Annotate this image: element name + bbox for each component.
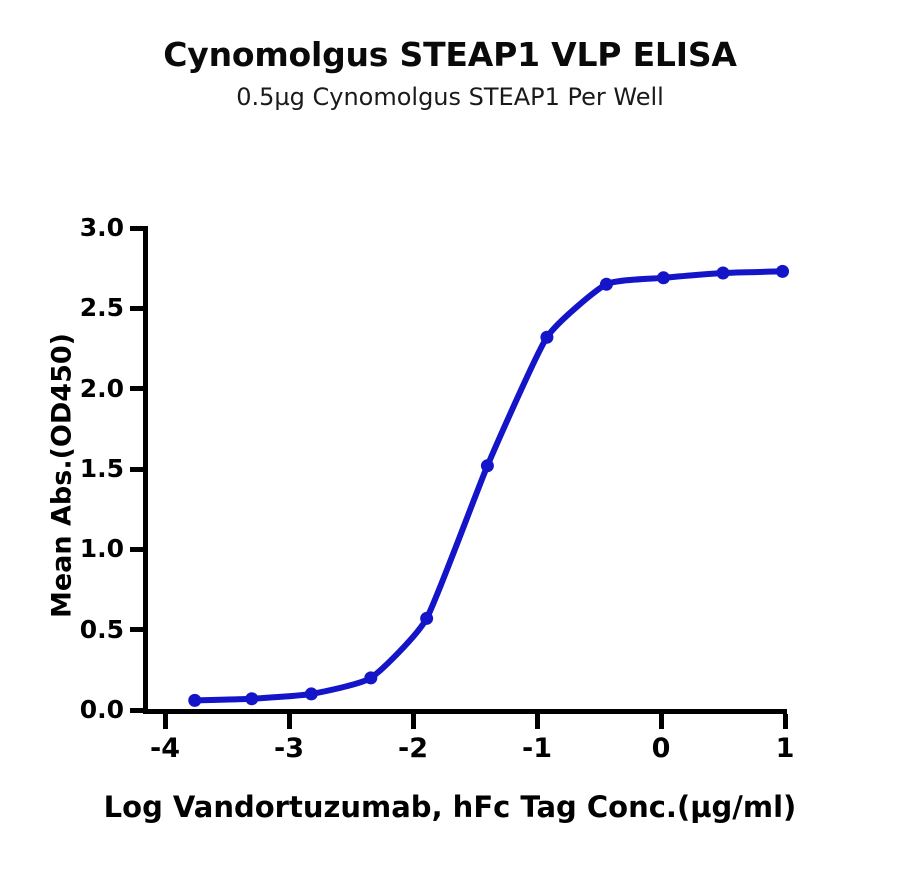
x-tick-label: 1 xyxy=(755,733,815,764)
x-axis-label: Log Vandortuzumab, hFc Tag Conc.(µg/ml) xyxy=(0,790,900,824)
y-tick-mark xyxy=(130,467,144,472)
x-tick-mark xyxy=(659,714,664,729)
y-tick-mark xyxy=(130,386,144,391)
x-tick-mark xyxy=(411,714,416,729)
data-point-marker xyxy=(188,694,201,707)
x-axis-spine xyxy=(143,709,787,714)
plot-area: 0.00.51.01.52.02.53.0 -4-3-2-101 Mean Ab… xyxy=(0,0,900,869)
x-tick-mark xyxy=(783,714,788,729)
y-tick-mark xyxy=(130,306,144,311)
data-point-marker xyxy=(245,692,258,705)
x-tick-mark xyxy=(163,714,168,729)
data-point-marker xyxy=(305,687,318,700)
x-tick-label: -2 xyxy=(383,733,443,764)
data-point-marker xyxy=(364,671,377,684)
data-point-marker xyxy=(776,265,789,278)
y-tick-mark xyxy=(130,708,144,713)
y-tick-mark xyxy=(130,547,144,552)
elisa-chart-figure: Cynomolgus STEAP1 VLP ELISA 0.5µg Cynomo… xyxy=(0,0,900,869)
x-tick-label: 0 xyxy=(631,733,691,764)
data-point-marker xyxy=(420,612,433,625)
x-tick-label: -1 xyxy=(507,733,567,764)
y-tick-mark xyxy=(130,627,144,632)
y-tick-mark xyxy=(130,226,144,231)
y-axis-label: Mean Abs.(OD450) xyxy=(47,236,78,716)
x-tick-mark xyxy=(287,714,292,729)
x-tick-label: -4 xyxy=(135,733,195,764)
x-tick-label: -3 xyxy=(259,733,319,764)
data-point-marker xyxy=(600,278,613,291)
data-point-marker xyxy=(717,266,730,279)
data-point-marker xyxy=(481,459,494,472)
series-line xyxy=(195,271,783,700)
data-point-marker xyxy=(540,331,553,344)
x-tick-mark xyxy=(535,714,540,729)
data-point-marker xyxy=(657,271,670,284)
